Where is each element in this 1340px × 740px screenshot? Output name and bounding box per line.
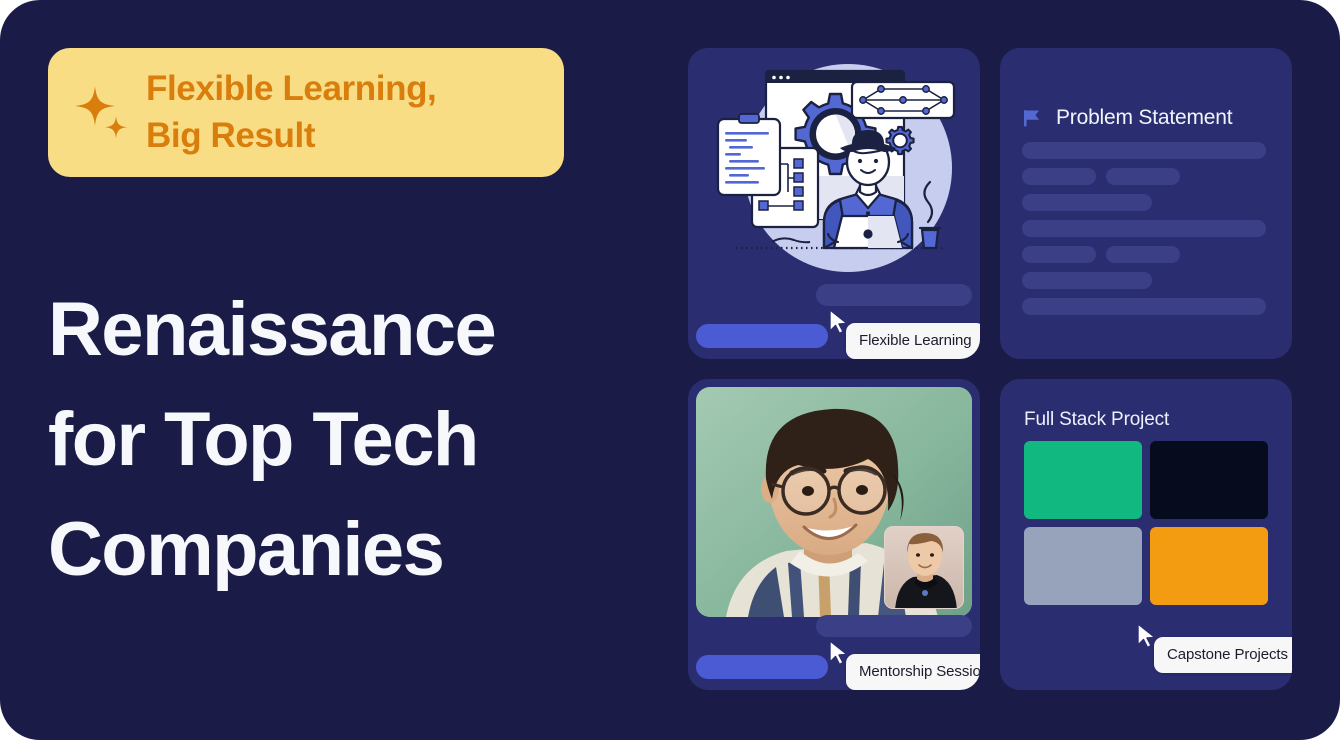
problem-statement-card[interactable]: Problem Statement [1000,48,1292,359]
tooltip-label: Flexible Learning [846,323,980,359]
mentee-portrait-video [885,527,964,609]
feature-card-grid: Flexible Learning Problem Statement [688,48,1292,696]
mentor-video-frame[interactable] [696,387,972,617]
tagline-badge: Flexible Learning, Big Result [48,48,564,177]
problem-statement-header: Problem Statement [1022,106,1232,130]
cursor-with-tooltip: Flexible Learning [828,309,980,359]
full-stack-project-title: Full Stack Project [1024,409,1169,431]
skeleton-bar-top [816,615,972,637]
left-content-column: Flexible Learning, Big Result Renaissanc… [48,48,648,692]
flag-icon [1022,107,1044,129]
gray-swatch[interactable] [1024,527,1142,605]
skeleton-row [1022,168,1270,185]
problem-statement-title: Problem Statement [1056,106,1232,130]
mentee-pip-video[interactable] [884,526,964,609]
color-swatch-grid [1024,441,1268,605]
tooltip-label: Mentorship Session [846,654,980,690]
skeleton-row [1022,142,1270,159]
cursor-with-tooltip: Capstone Projects [1136,623,1292,673]
skeleton-row [1022,246,1270,263]
skeleton-row [1022,272,1270,289]
page-title: Renaissance for Top Tech Companies [48,275,648,606]
skeleton-bar-bottom [696,655,828,679]
problem-statement-skeleton [1022,142,1270,324]
tagline-text: Flexible Learning, Big Result [146,66,436,158]
dark-swatch[interactable] [1150,441,1268,519]
developer-at-laptop-illustration [706,56,968,286]
tooltip-label: Capstone Projects [1154,637,1292,673]
skeleton-bar-bottom [696,324,828,348]
flexible-learning-card[interactable]: Flexible Learning [688,48,980,359]
orange-swatch[interactable] [1150,527,1268,605]
green-swatch[interactable] [1024,441,1142,519]
cursor-with-tooltip: Mentorship Session [828,640,980,690]
sparkle-icon [74,84,132,142]
full-stack-project-card[interactable]: Full Stack Project Capstone Projects [1000,379,1292,690]
mentorship-session-card[interactable]: Mentorship Session [688,379,980,690]
skeleton-bar-top [816,284,972,306]
skeleton-row [1022,220,1270,237]
skeleton-row [1022,194,1270,211]
promo-banner: Flexible Learning, Big Result Renaissanc… [0,0,1340,740]
skeleton-row [1022,298,1270,315]
